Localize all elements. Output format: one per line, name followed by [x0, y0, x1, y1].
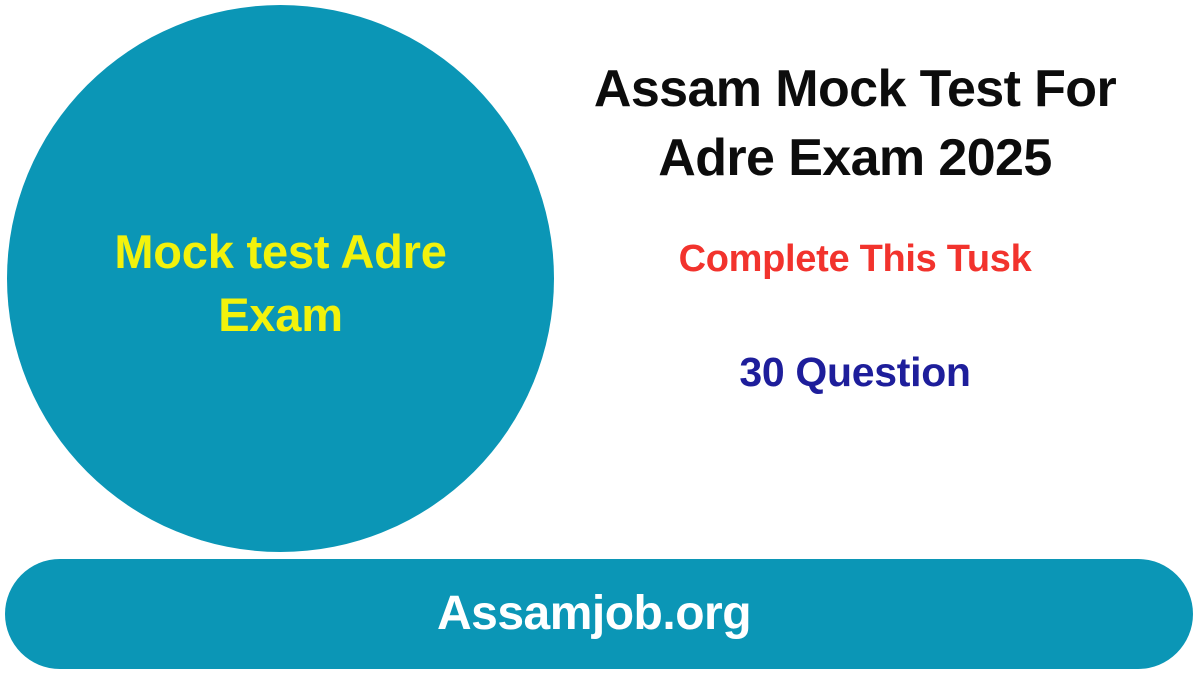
circle-badge-line-1: Mock test Adre	[41, 221, 520, 283]
site-name: Assamjob.org	[437, 590, 751, 638]
circle-badge: Mock test Adre Exam	[7, 5, 554, 552]
page-title-line-1: Assam Mock Test For	[545, 55, 1165, 124]
question-count-label: 30 Question	[739, 348, 970, 397]
page-title: Assam Mock Test For Adre Exam 2025	[545, 55, 1165, 193]
task-callout: Complete This Tusk	[679, 237, 1032, 283]
page-title-line-2: Adre Exam 2025	[545, 124, 1165, 193]
circle-badge-text: Mock test Adre Exam	[41, 221, 520, 345]
poster-canvas: Mock test Adre Exam Assam Mock Test For …	[0, 0, 1200, 680]
footer-banner: Assamjob.org	[5, 559, 1193, 669]
circle-badge-line-2: Exam	[41, 284, 520, 346]
right-text-column: Assam Mock Test For Adre Exam 2025 Compl…	[530, 0, 1180, 556]
